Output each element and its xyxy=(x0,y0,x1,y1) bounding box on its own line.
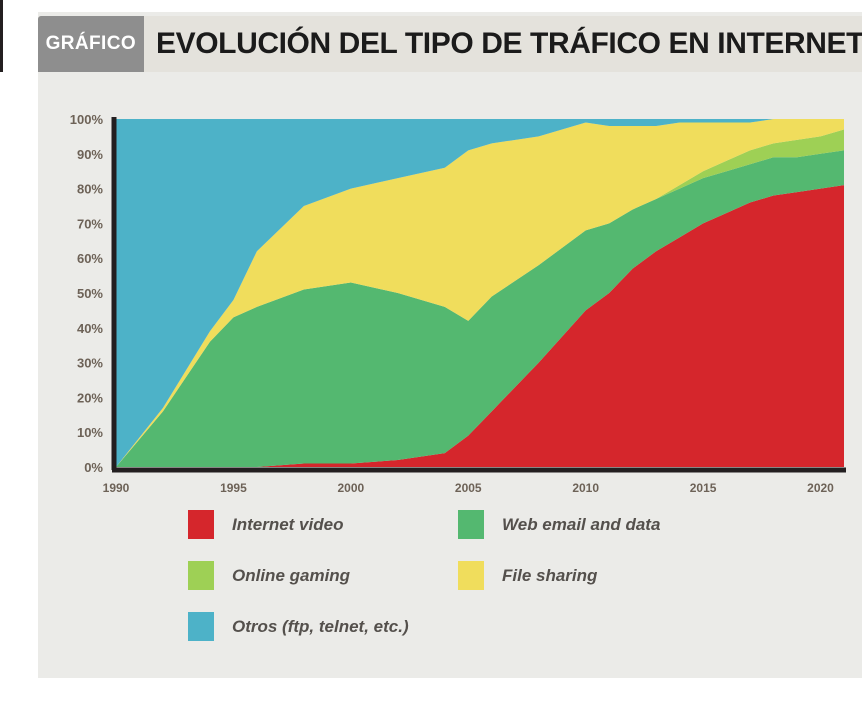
chart-legend: Internet video Web email and data Online… xyxy=(188,510,808,663)
legend-label-file-sharing: File sharing xyxy=(502,566,597,586)
graphic-badge: GRÁFICO xyxy=(38,16,144,72)
chart-card: GRÁFICO EVOLUCIÓN DEL TIPO DE TRÁFICO EN… xyxy=(38,12,862,678)
x-tick-label: 1995 xyxy=(220,481,247,495)
legend-swatch-file-sharing xyxy=(458,561,484,590)
legend-row: Online gaming File sharing xyxy=(188,561,808,590)
legend-row: Internet video Web email and data xyxy=(188,510,808,539)
y-tick-label: 70% xyxy=(77,216,103,231)
legend-item-web-email-and-data[interactable]: Web email and data xyxy=(458,510,728,539)
y-tick-label: 10% xyxy=(77,425,103,440)
x-tick-label: 2020 xyxy=(807,481,834,495)
legend-swatch-online-gaming xyxy=(188,561,214,590)
legend-label-online-gaming: Online gaming xyxy=(232,566,350,586)
x-axis-tick-labels: 1990199520002005201020152020 xyxy=(103,481,835,495)
legend-label-web-email-and-data: Web email and data xyxy=(502,515,660,535)
x-tick-label: 2005 xyxy=(455,481,482,495)
y-tick-label: 20% xyxy=(77,390,103,405)
legend-item-internet-video[interactable]: Internet video xyxy=(188,510,458,539)
legend-item-online-gaming[interactable]: Online gaming xyxy=(188,561,458,590)
y-tick-label: 40% xyxy=(77,321,103,336)
page-title: EVOLUCIÓN DEL TIPO DE TRÁFICO EN INTERNE… xyxy=(156,16,862,72)
left-edge-rule xyxy=(0,0,3,72)
legend-item-file-sharing[interactable]: File sharing xyxy=(458,561,728,590)
legend-item-otros[interactable]: Otros (ftp, telnet, etc.) xyxy=(188,612,458,641)
y-tick-label: 30% xyxy=(77,356,103,371)
legend-swatch-internet-video xyxy=(188,510,214,539)
area-series-group xyxy=(116,119,844,467)
legend-label-otros: Otros (ftp, telnet, etc.) xyxy=(232,617,409,637)
y-axis-tick-labels: 0%10%20%30%40%50%60%70%80%90%100% xyxy=(70,112,104,475)
y-tick-label: 50% xyxy=(77,286,103,301)
legend-row: Otros (ftp, telnet, etc.) xyxy=(188,612,808,641)
y-tick-label: 60% xyxy=(77,251,103,266)
legend-swatch-web-email-and-data xyxy=(458,510,484,539)
chart-header: GRÁFICO EVOLUCIÓN DEL TIPO DE TRÁFICO EN… xyxy=(38,16,862,72)
legend-label-internet-video: Internet video xyxy=(232,515,343,535)
y-tick-label: 100% xyxy=(70,112,104,127)
y-tick-label: 0% xyxy=(84,460,103,475)
legend-swatch-otros xyxy=(188,612,214,641)
x-tick-label: 2015 xyxy=(690,481,717,495)
x-tick-label: 2000 xyxy=(337,481,364,495)
chart-plot-area: 0%10%20%30%40%50%60%70%80%90%100% 199019… xyxy=(38,72,862,502)
x-tick-label: 1990 xyxy=(103,481,130,495)
x-tick-label: 2010 xyxy=(572,481,599,495)
y-tick-label: 80% xyxy=(77,182,103,197)
stacked-area-chart: 0%10%20%30%40%50%60%70%80%90%100% 199019… xyxy=(38,72,862,502)
y-tick-label: 90% xyxy=(77,147,103,162)
